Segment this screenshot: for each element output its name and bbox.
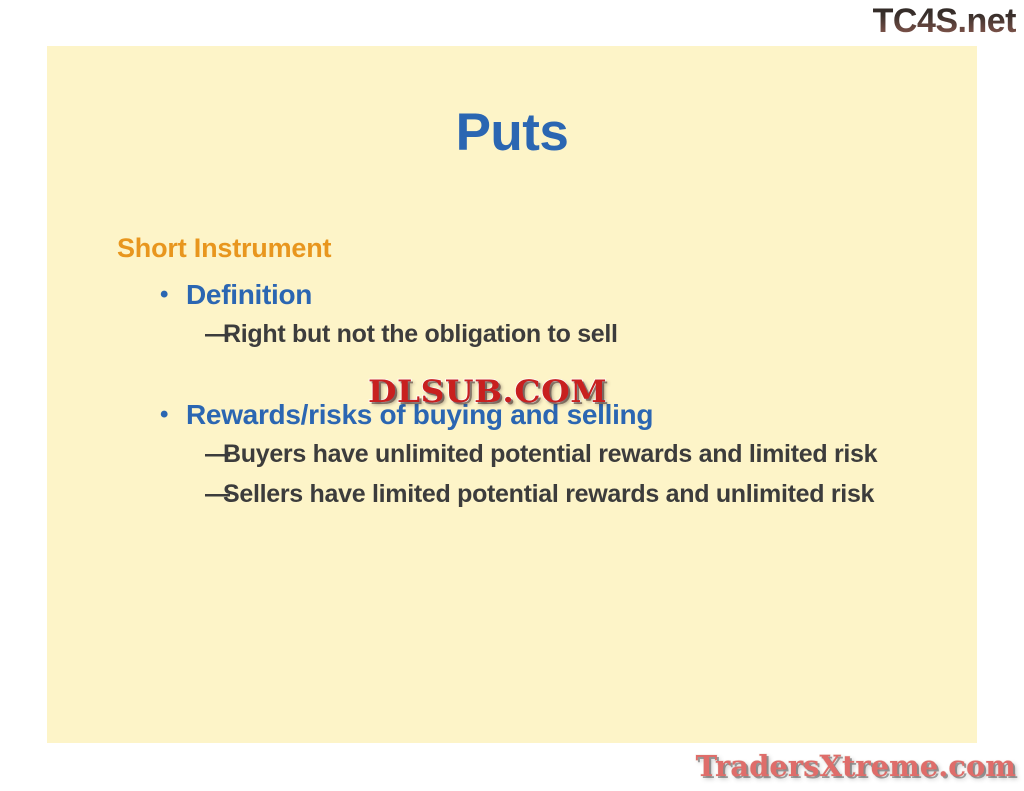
dlsub-watermark: DLSUB.COM (368, 377, 607, 408)
sub-bullet-buyers-label: Buyers have unlimited potential rewards … (223, 437, 877, 471)
em-dash-icon: — (205, 477, 223, 511)
sub-bullet-sellers-label: Sellers have limited potential rewards a… (223, 477, 874, 511)
bullet-definition-label: Definition (186, 277, 312, 313)
brand-logo-bottom-right: TradersXtreme.com (696, 749, 1016, 783)
sub-bullet-buyers: — Buyers have unlimited potential reward… (205, 437, 967, 471)
sub-bullet-right-to-sell: — Right but not the obligation to sell (205, 317, 967, 351)
level1-heading-short-instrument: Short Instrument (117, 231, 967, 265)
sub-bullet-sellers: — Sellers have limited potential rewards… (205, 477, 967, 511)
bullet-definition: • Definition (160, 277, 967, 313)
brand-logo-top-right: TC4S.net (873, 2, 1016, 40)
em-dash-icon: — (205, 317, 223, 351)
slide-title: Puts (47, 104, 977, 162)
slide-panel: Puts Short Instrument • Definition — Rig… (47, 46, 977, 743)
em-dash-icon: — (205, 437, 223, 471)
bullet-dot-icon: • (160, 277, 186, 313)
bullet-dot-icon: • (160, 397, 186, 433)
sub-bullet-right-to-sell-label: Right but not the obligation to sell (223, 317, 618, 351)
